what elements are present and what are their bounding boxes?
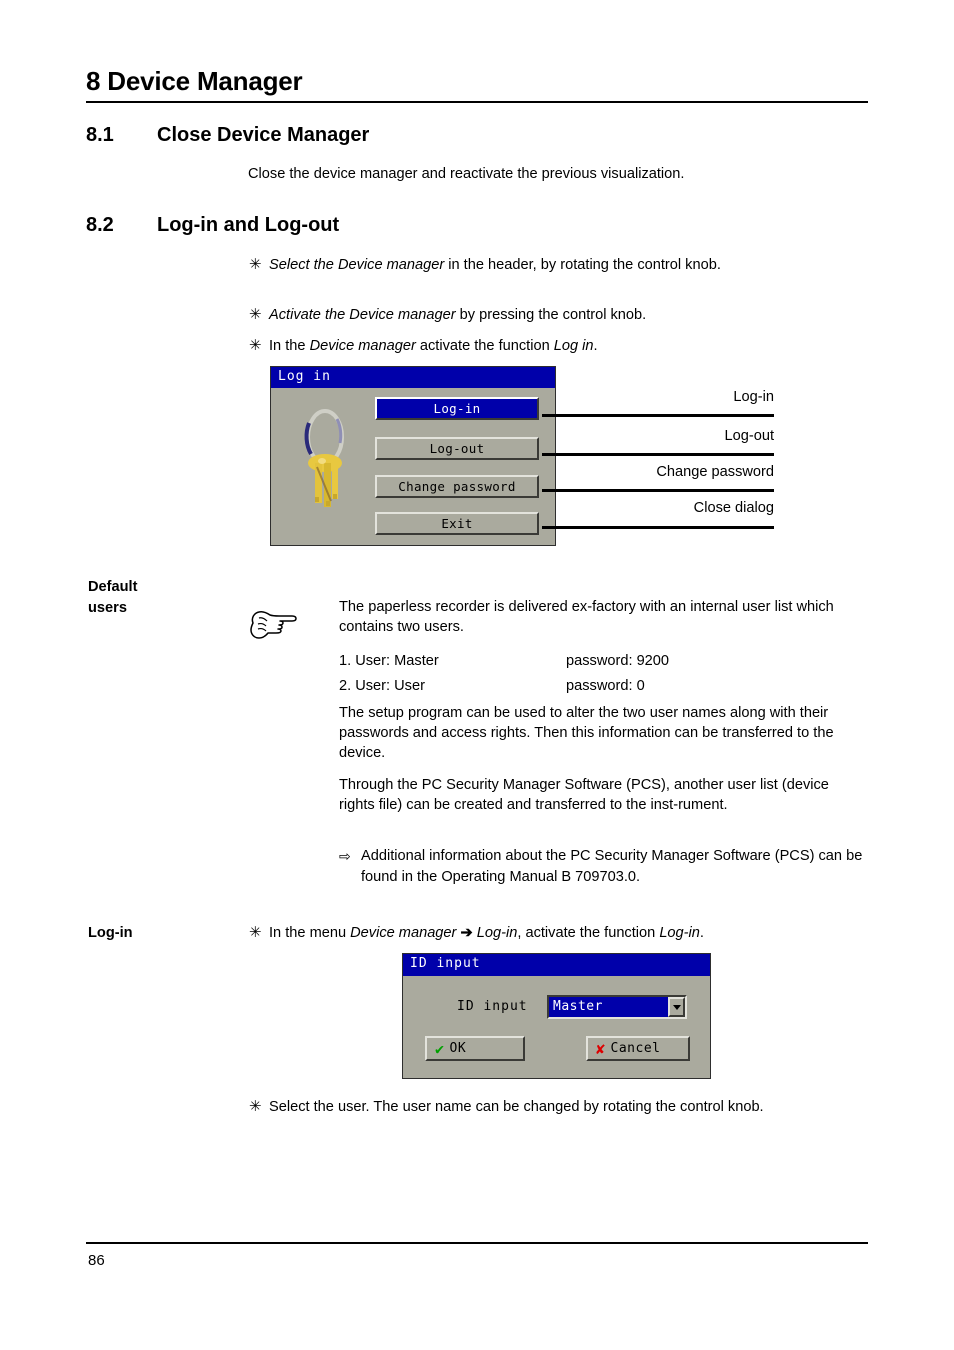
chevron-down-icon[interactable] — [668, 997, 685, 1017]
section-number-8-1: 8.1 — [86, 124, 114, 147]
default-user-row-1-password: password: 9200 — [566, 651, 669, 671]
list-item-text: In the menu Device manager ➔ Log-in, act… — [269, 923, 869, 944]
note-item: ⇨ Additional information about the PC Se… — [339, 846, 869, 887]
list-item-rest: in the header, by rotating the control k… — [444, 257, 721, 273]
cross-icon: ✘ — [596, 1040, 606, 1058]
callout-leader-line — [542, 489, 774, 492]
emphasis-text: Log-in — [659, 925, 700, 941]
check-icon: ✔ — [435, 1040, 445, 1058]
document-page: 8 Device Manager 8.1 Close Device Manage… — [0, 0, 954, 1350]
chapter-divider — [86, 101, 868, 103]
emphasis-text: Select the Device manager — [269, 257, 444, 273]
id-input-dialog-screenshot: ID input ID input Master ✔ OK ✘ Cancel — [402, 953, 711, 1079]
footer-divider — [86, 1242, 868, 1244]
asterisk-bullet-icon: ✳ — [249, 255, 262, 276]
step-prefix: In the menu — [269, 925, 350, 941]
callout-leader-line — [542, 453, 774, 456]
section-title-8-1: Close Device Manager — [157, 124, 369, 147]
key-ring-icon — [297, 397, 355, 515]
callout-leader-line — [542, 414, 774, 417]
login-dialog-screenshot: Log in Log-in Log-out Change password Ex… — [270, 366, 556, 546]
note-text: Additional information about the PC Secu… — [361, 846, 869, 887]
list-item-text: Select the user. The user name can be ch… — [269, 1097, 839, 1118]
emphasis-text: Log-in — [477, 925, 518, 941]
list-item-prefix: In the — [269, 338, 310, 354]
asterisk-bullet-icon: ✳ — [249, 305, 262, 326]
section-number-8-2: 8.2 — [86, 214, 114, 237]
callout-leader-line — [542, 526, 774, 529]
dialog-titlebar: ID input — [403, 954, 710, 976]
list-item: ✳ In the Device manager activate the fun… — [249, 336, 809, 357]
id-input-selected-value: Master — [549, 997, 668, 1017]
list-item-middle: activate the function — [416, 338, 554, 354]
pointing-hand-icon — [246, 604, 298, 644]
arrow-right-icon: ➔ — [460, 925, 472, 941]
list-item-text: Select the Device manager in the header,… — [269, 255, 789, 276]
margin-label-default-users-line1: Default — [88, 577, 137, 598]
list-item-suffix: . — [594, 338, 598, 354]
arrow-right-icon: ⇨ — [339, 846, 351, 867]
list-item-rest: by pressing the control knob. — [456, 307, 647, 323]
dialog-titlebar: Log in — [271, 367, 555, 388]
section-8-1-body: Close the device manager and reactivate … — [248, 164, 868, 184]
paragraph-pc-security-manager: Through the PC Security Manager Software… — [339, 775, 847, 815]
list-item: ✳ Activate the Device manager by pressin… — [249, 305, 809, 326]
margin-label-log-in: Log-in — [88, 923, 133, 944]
id-input-field-label: ID input — [457, 999, 528, 1014]
asterisk-bullet-icon: ✳ — [249, 336, 262, 357]
cancel-button[interactable]: ✘ Cancel — [586, 1036, 690, 1061]
emphasis-text: Log in — [554, 338, 594, 354]
callout-label-log-out: Log-out — [515, 428, 774, 444]
list-item: ✳ Select the user. The user name can be … — [249, 1097, 839, 1118]
id-input-select[interactable]: Master — [547, 995, 687, 1019]
callout-label-change-password: Change password — [515, 464, 774, 480]
margin-label-default-users-line2: users — [88, 598, 127, 619]
asterisk-bullet-icon: ✳ — [249, 1097, 262, 1118]
callout-label-close-dialog: Close dialog — [515, 500, 774, 516]
default-user-row-2-password: password: 0 — [566, 676, 645, 696]
step-suffix: . — [700, 925, 704, 941]
emphasis-text: Activate the Device manager — [269, 307, 456, 323]
emphasis-text: Device manager — [350, 925, 456, 941]
list-item: ✳ In the menu Device manager ➔ Log-in, a… — [249, 923, 869, 944]
step-middle: , activate the function — [517, 925, 659, 941]
paragraph-setup-program: The setup program can be used to alter t… — [339, 703, 866, 763]
callout-label-log-in: Log-in — [515, 389, 774, 405]
page-number: 86 — [88, 1252, 105, 1269]
asterisk-bullet-icon: ✳ — [249, 923, 262, 944]
default-users-intro: The paperless recorder is delivered ex-f… — [339, 597, 864, 637]
list-item-text: Activate the Device manager by pressing … — [269, 305, 809, 326]
ok-button-label: OK — [450, 1041, 467, 1056]
section-title-8-2: Log-in and Log-out — [157, 214, 339, 237]
page-title: 8 Device Manager — [86, 66, 302, 97]
default-user-row-2-name: 2. User: User — [339, 676, 425, 696]
list-item: ✳ Select the Device manager in the heade… — [249, 255, 789, 276]
default-user-row-1-name: 1. User: Master — [339, 651, 439, 671]
emphasis-text: Device manager — [310, 338, 416, 354]
cancel-button-label: Cancel — [611, 1041, 661, 1056]
list-item-text: In the Device manager activate the funct… — [269, 336, 809, 357]
ok-button[interactable]: ✔ OK — [425, 1036, 525, 1061]
